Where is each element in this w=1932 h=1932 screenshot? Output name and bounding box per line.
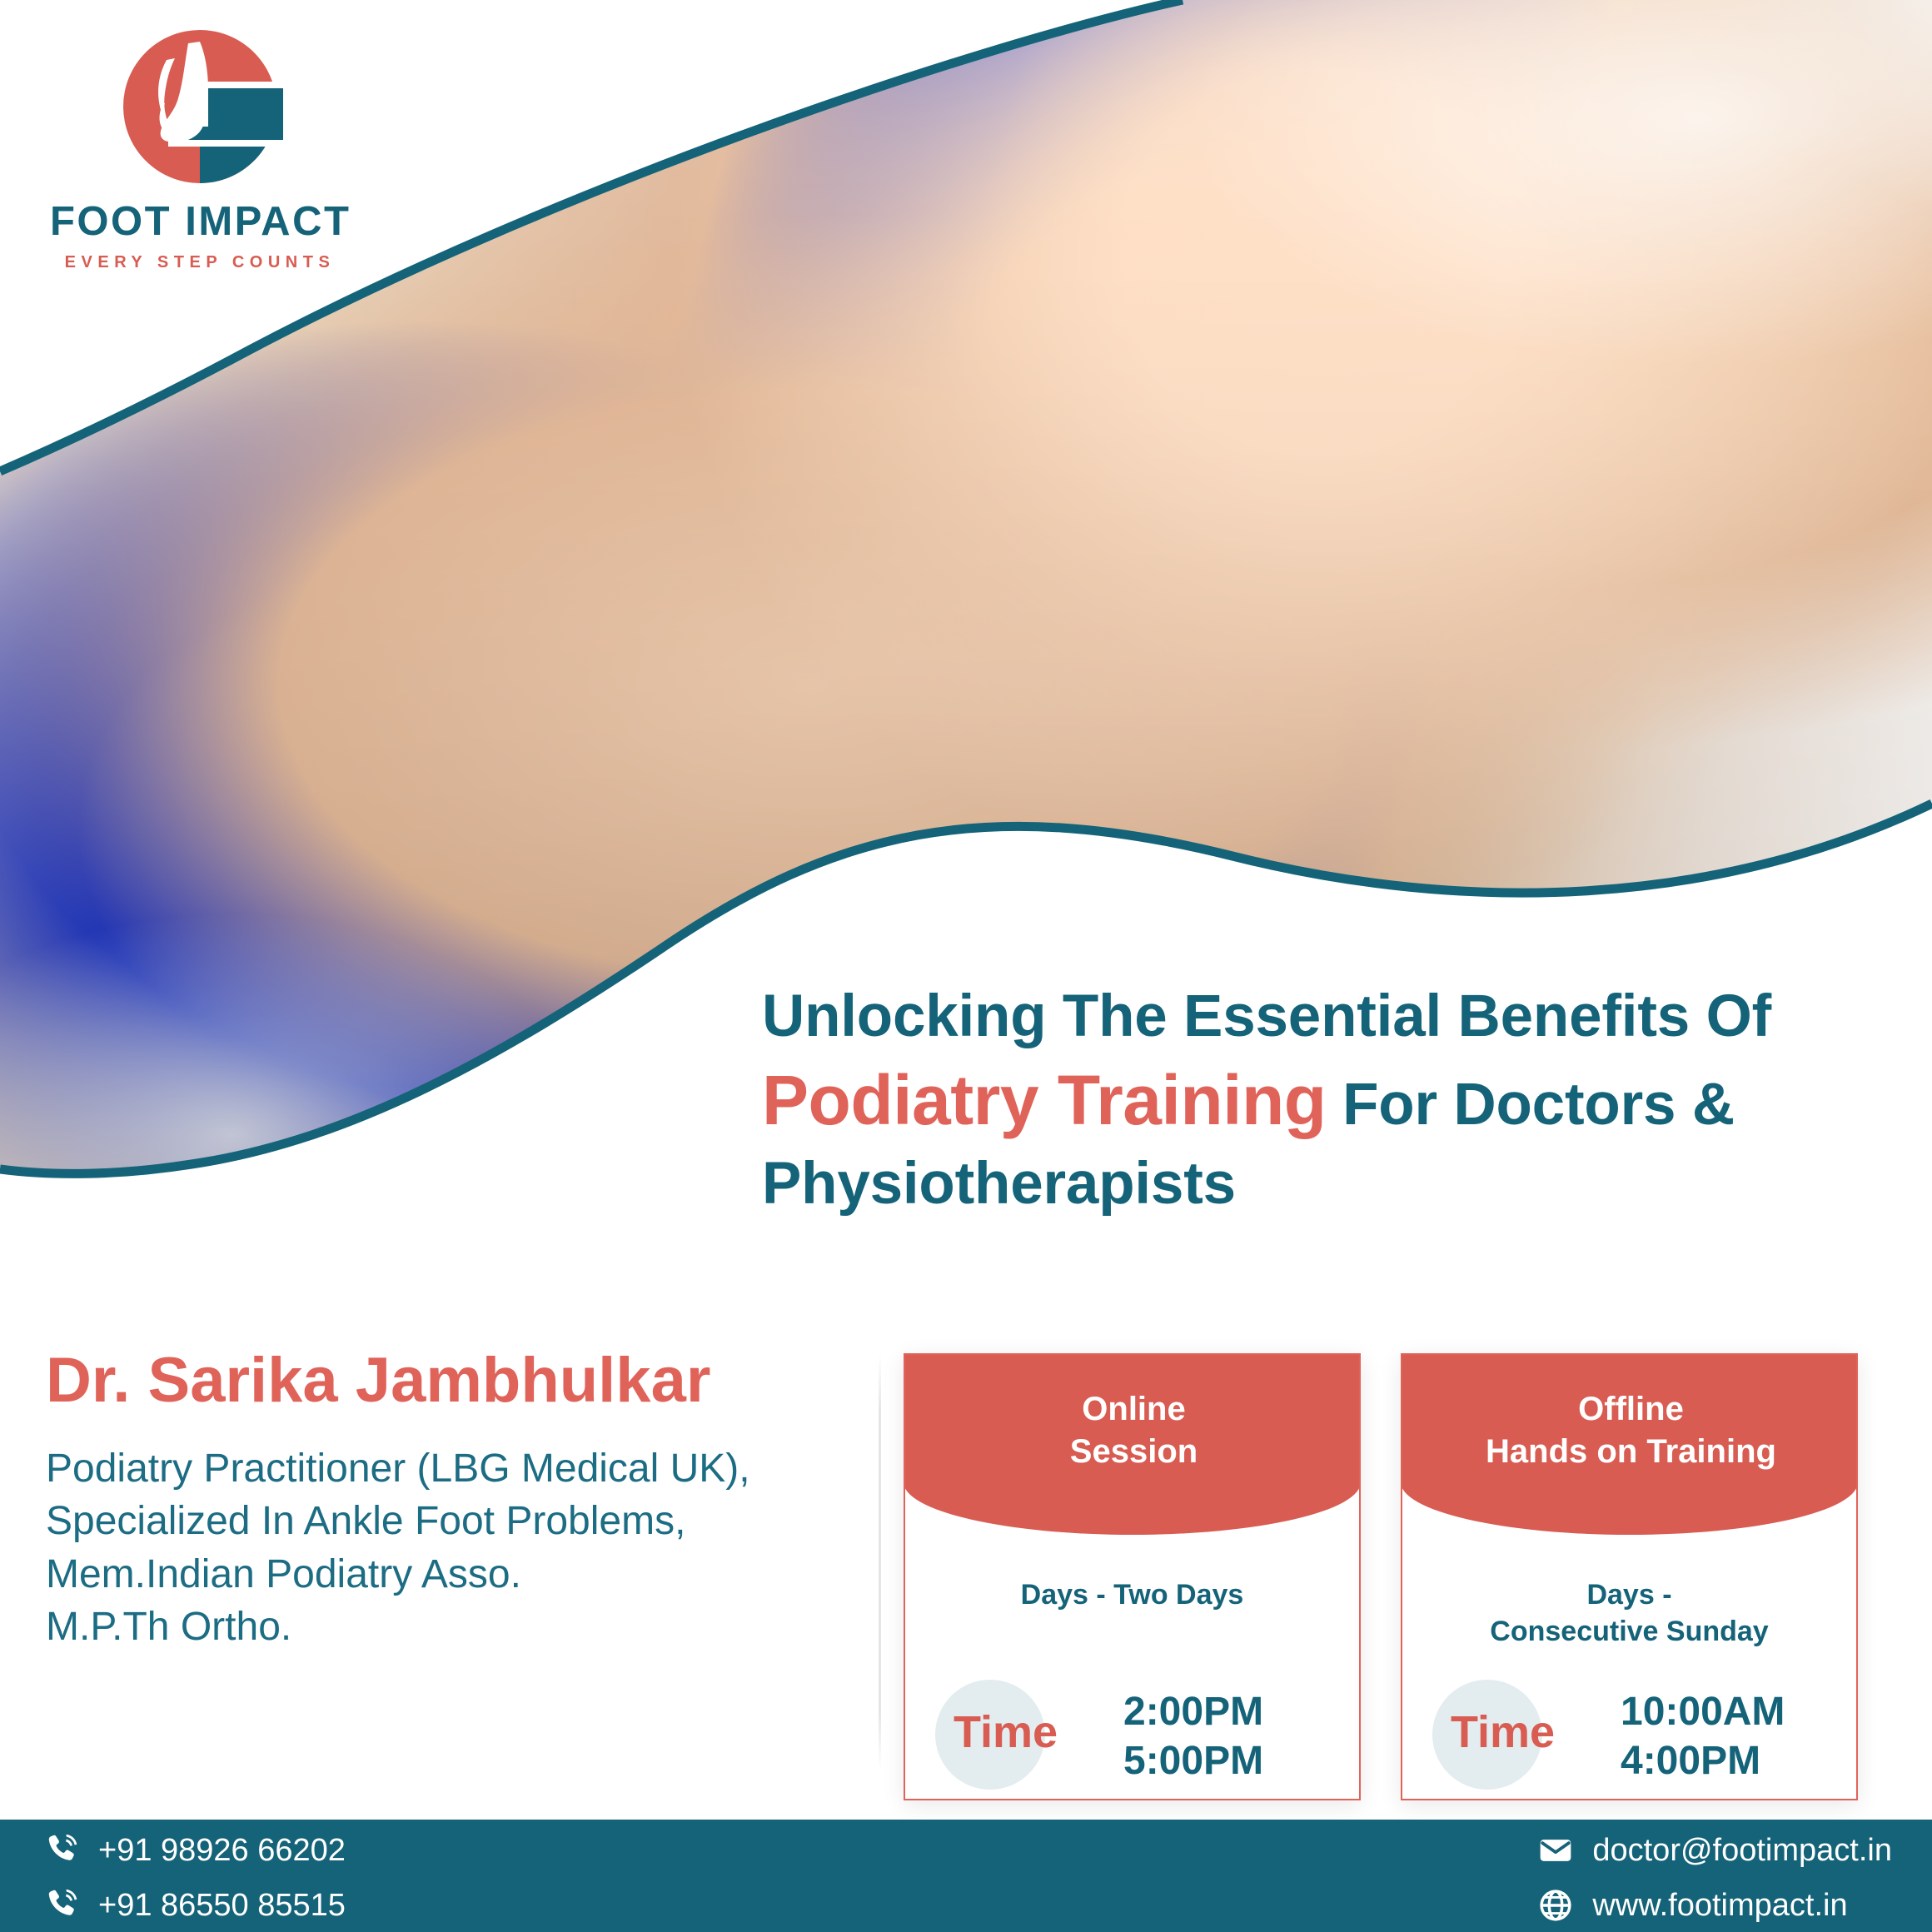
time-end: 5:00PM (1123, 1737, 1352, 1786)
card-header-label: Online Session (905, 1388, 1361, 1473)
footer-phone-2[interactable]: +91 86550 85515 (43, 1881, 346, 1930)
footer-web-column: doctor@footimpact.in www.footimpact.in (1537, 1820, 1892, 1932)
footer-phone-column: +91 98926 66202 +91 86550 85515 (43, 1820, 346, 1932)
footer-email-text: doctor@footimpact.in (1592, 1833, 1892, 1869)
footer-email[interactable]: doctor@footimpact.in (1537, 1826, 1892, 1875)
vertical-divider (879, 1354, 881, 1770)
credential-line: Podiatry Practitioner (LBG Medical UK), (46, 1442, 870, 1495)
session-card-offline[interactable]: Offline Hands on Training Days - Consecu… (1401, 1353, 1858, 1800)
brand-logo: FOOT IMPACT EVERY STEP COUNTS (50, 23, 350, 272)
card-days: Days - Consecutive Sunday (1402, 1576, 1856, 1650)
card-header-line-1: Online (905, 1388, 1361, 1431)
headline-line-2-rest: For Doctors & (1342, 1072, 1735, 1138)
card-header-line-1: Offline (1402, 1388, 1858, 1431)
time-label: Time (954, 1710, 1095, 1755)
envelope-icon (1537, 1832, 1574, 1869)
contact-footer: +91 98926 66202 +91 86550 85515 doctor@f… (0, 1820, 1932, 1932)
footer-phone-1[interactable]: +91 98926 66202 (43, 1826, 346, 1875)
card-days-line-2: Consecutive Sunday (1402, 1613, 1856, 1650)
card-header-line-2: Session (905, 1431, 1361, 1473)
session-card-online[interactable]: Online Session Days - Two Days Time 2:00… (904, 1353, 1361, 1800)
logo-tagline: EVERY STEP COUNTS (50, 253, 350, 272)
time-label: Time (1451, 1710, 1592, 1755)
logo-wordmark: FOOT IMPACT (50, 202, 350, 242)
card-days: Days - Two Days (905, 1576, 1359, 1613)
headline-line-2: Podiatry Training For Doctors & (762, 1055, 1911, 1146)
credential-line: Specialized In Ankle Foot Problems, (46, 1495, 870, 1547)
footer-phone-1-text: +91 98926 66202 (98, 1833, 346, 1869)
card-days-line-1: Days - Two Days (905, 1576, 1359, 1613)
doctor-info: Dr. Sarika Jambhulkar Podiatry Practitio… (46, 1347, 870, 1653)
doctor-name: Dr. Sarika Jambhulkar (46, 1347, 870, 1414)
credential-line: Mem.Indian Podiatry Asso. (46, 1548, 870, 1601)
time-start: 2:00PM (1123, 1688, 1352, 1737)
headline-line-3: Physiotherapists (762, 1146, 1911, 1222)
phone-icon (43, 1832, 80, 1869)
doctor-credentials: Podiatry Practitioner (LBG Medical UK), … (46, 1442, 870, 1653)
headline-accent: Podiatry Training (762, 1061, 1327, 1139)
foot-in-circle-logo-icon (117, 23, 283, 190)
card-time-row: Time 10:00AM 4:00PM (1402, 1685, 1856, 1785)
footer-website[interactable]: www.footimpact.in (1537, 1881, 1892, 1930)
card-header-line-2: Hands on Training (1402, 1431, 1858, 1473)
footer-website-text: www.footimpact.in (1592, 1888, 1847, 1924)
time-end: 4:00PM (1621, 1737, 1850, 1786)
promotional-flyer: FOOT IMPACT EVERY STEP COUNTS Unlocking … (0, 0, 1932, 1932)
time-start: 10:00AM (1621, 1688, 1850, 1737)
phone-icon (43, 1887, 80, 1924)
globe-icon (1537, 1887, 1574, 1924)
card-time-row: Time 2:00PM 5:00PM (905, 1685, 1359, 1785)
card-days-line-1: Days - (1402, 1576, 1856, 1613)
footer-phone-2-text: +91 86550 85515 (98, 1888, 346, 1924)
card-header-label: Offline Hands on Training (1402, 1388, 1858, 1473)
time-values: 10:00AM 4:00PM (1621, 1688, 1850, 1785)
credential-line: M.P.Th Ortho. (46, 1601, 870, 1653)
headline-line-1: Unlocking The Essential Benefits Of (762, 978, 1911, 1055)
page-title: Unlocking The Essential Benefits Of Podi… (762, 978, 1911, 1223)
time-values: 2:00PM 5:00PM (1123, 1688, 1352, 1785)
